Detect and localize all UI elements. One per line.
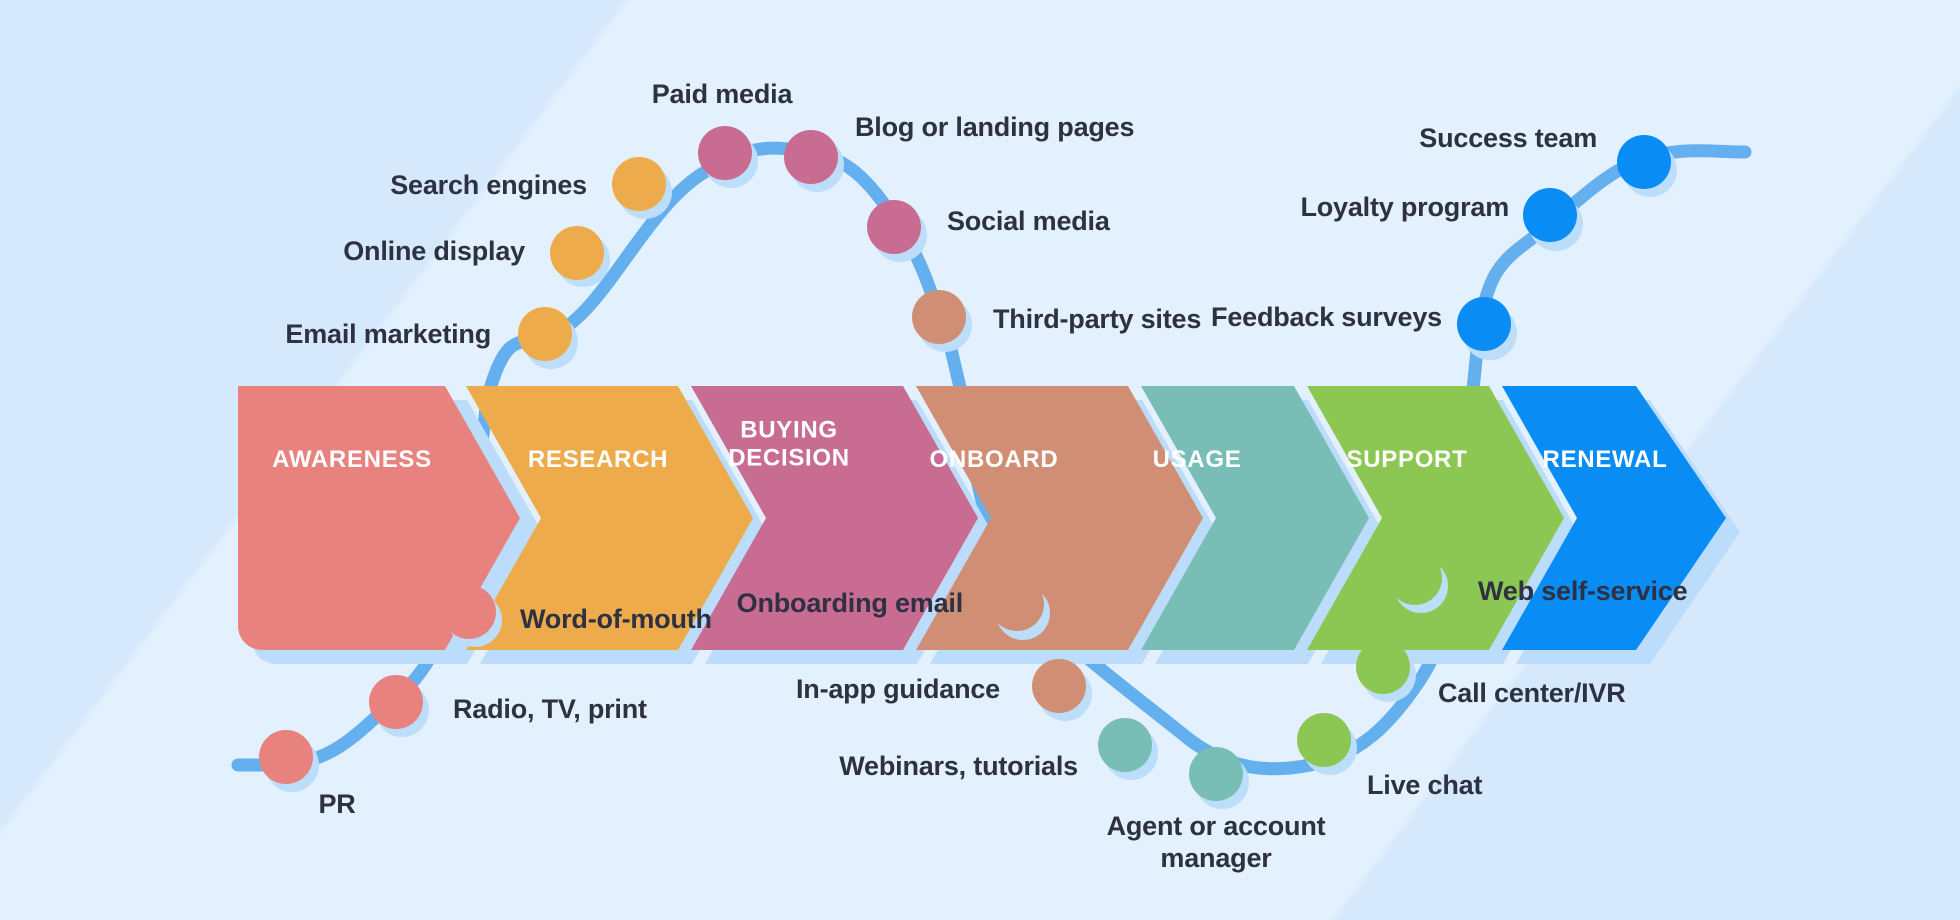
touchpoint-label-paid-media: Paid media bbox=[652, 79, 793, 111]
dot-radio-tv-print bbox=[369, 675, 423, 729]
dot-loyalty-program bbox=[1523, 188, 1577, 242]
dot-third-party-sites bbox=[912, 290, 966, 344]
dot-pr bbox=[259, 730, 313, 784]
touchpoint-label-success-team: Success team bbox=[1419, 123, 1597, 155]
dot-agent-account-manager bbox=[1189, 747, 1243, 801]
dot-webinars-tutorials bbox=[1098, 718, 1152, 772]
touchpoint-label-live-chat: Live chat bbox=[1367, 770, 1482, 802]
dot-call-center-ivr bbox=[1356, 640, 1410, 694]
journey-diagram: AWARENESS RESEARCH BUYING DECISION ONBOA… bbox=[0, 0, 1960, 920]
stage-label-awareness: AWARENESS bbox=[272, 446, 432, 474]
touchpoint-label-online-display: Online display bbox=[343, 236, 525, 268]
touchpoint-label-feedback-surveys: Feedback surveys bbox=[1211, 302, 1442, 334]
touchpoint-label-pr: PR bbox=[318, 789, 355, 821]
touchpoint-label-webinars-tutorials: Webinars, tutorials bbox=[839, 751, 1078, 783]
dot-blog-landing-pages bbox=[784, 130, 838, 184]
dot-word-of-mouth bbox=[442, 585, 496, 639]
stage-label-buying-decision: BUYING DECISION bbox=[728, 416, 850, 471]
dot-social-media bbox=[867, 200, 921, 254]
stage-label-support: SUPPORT bbox=[1347, 446, 1468, 474]
touchpoint-label-radio-tv-print: Radio, TV, print bbox=[453, 694, 647, 726]
dot-paid-media bbox=[698, 126, 752, 180]
touchpoint-label-email-marketing: Email marketing bbox=[285, 319, 491, 351]
touchpoint-label-word-of-mouth: Word-of-mouth bbox=[520, 604, 712, 636]
dot-success-team bbox=[1617, 135, 1671, 189]
touchpoint-label-loyalty-program: Loyalty program bbox=[1300, 192, 1509, 224]
touchpoint-label-web-self-service: Web self-service bbox=[1478, 576, 1687, 608]
touchpoint-label-in-app-guidance: In-app guidance bbox=[796, 674, 1000, 706]
dot-email-marketing bbox=[518, 307, 572, 361]
dot-live-chat bbox=[1297, 713, 1351, 767]
dot-onboarding-email bbox=[990, 577, 1044, 631]
dot-web-self-service bbox=[1388, 551, 1442, 605]
touchpoint-label-search-engines: Search engines bbox=[390, 170, 587, 202]
touchpoint-label-onboarding-email: Onboarding email bbox=[737, 588, 963, 620]
touchpoint-label-agent-account-manager: Agent or account manager bbox=[1107, 811, 1326, 875]
dot-search-engines bbox=[612, 157, 666, 211]
touchpoint-label-call-center-ivr: Call center/IVR bbox=[1438, 678, 1626, 710]
dot-feedback-surveys bbox=[1457, 297, 1511, 351]
touchpoint-label-social-media: Social media bbox=[947, 206, 1110, 238]
stage-label-onboard: ONBOARD bbox=[930, 446, 1059, 474]
stage-label-research: RESEARCH bbox=[528, 446, 668, 474]
stage-label-usage: USAGE bbox=[1153, 446, 1242, 474]
touchpoint-label-third-party-sites: Third-party sites bbox=[993, 304, 1201, 336]
touchpoint-label-blog-landing-pages: Blog or landing pages bbox=[855, 112, 1134, 144]
dot-in-app-guidance bbox=[1032, 659, 1086, 713]
dot-online-display bbox=[550, 226, 604, 280]
stage-label-renewal: RENEWAL bbox=[1543, 446, 1668, 474]
